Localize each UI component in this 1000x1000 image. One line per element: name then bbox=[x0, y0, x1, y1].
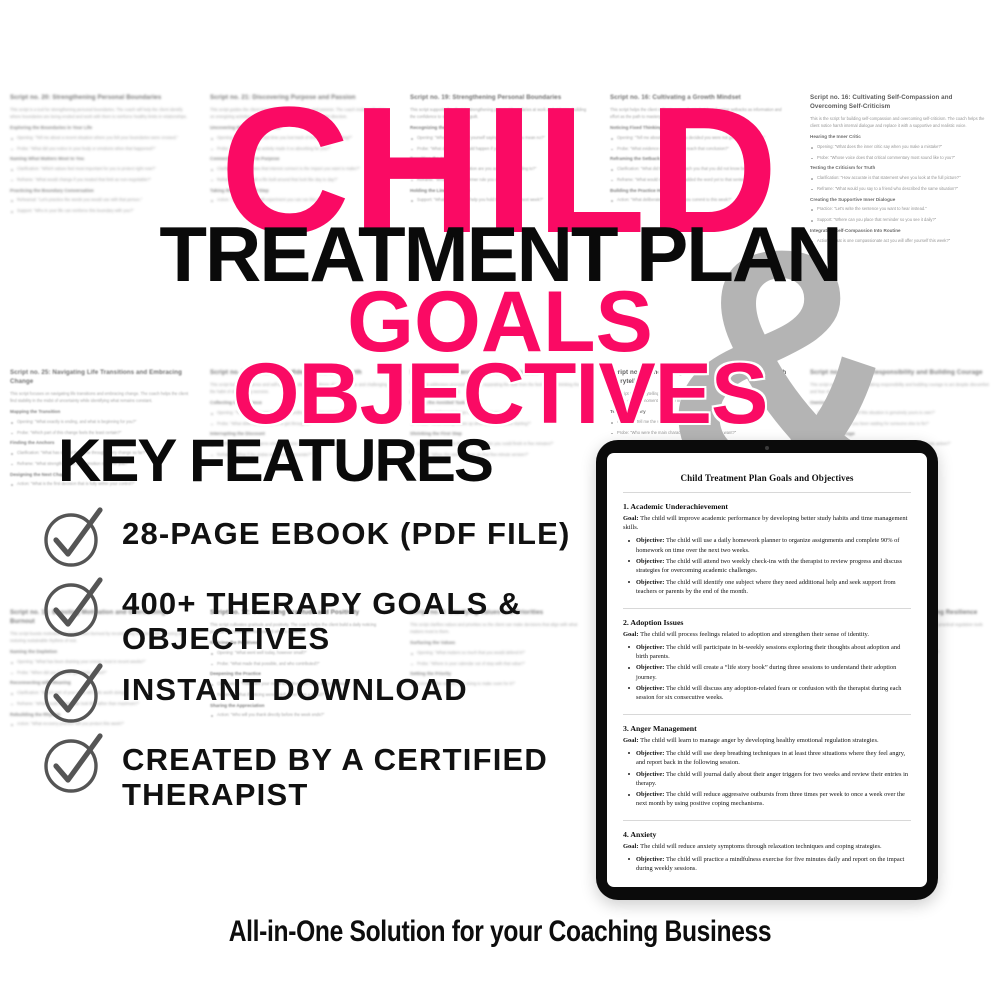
objective-item: Objective: The child will create a “life… bbox=[636, 663, 911, 681]
document-title: Child Treatment Plan Goals and Objective… bbox=[623, 473, 911, 483]
goal-label: Goal: bbox=[623, 843, 640, 850]
divider bbox=[623, 492, 911, 493]
objective-label: Objective: bbox=[636, 537, 666, 544]
objective-label: Objective: bbox=[636, 685, 666, 692]
objective-list: Objective: The child will use a daily ho… bbox=[623, 536, 911, 596]
key-features-heading: KEY FEATURES bbox=[58, 436, 492, 486]
divider bbox=[623, 714, 911, 715]
tagline: All-in-One Solution for your Coaching Bu… bbox=[90, 915, 910, 949]
feature-item: 400+ THERAPY GOALS & OBJECTIVES bbox=[40, 578, 600, 656]
poster-canvas: Script no. 20: Strengthening Personal Bo… bbox=[0, 0, 1000, 1000]
objective-item: Objective: The child will use deep breat… bbox=[636, 749, 911, 767]
feature-label: CREATED BY A CERTIFIED THERAPIST bbox=[122, 734, 600, 812]
objective-label: Objective: bbox=[636, 856, 666, 863]
objective-label: Objective: bbox=[636, 750, 666, 757]
feature-label: 400+ THERAPY GOALS & OBJECTIVES bbox=[122, 578, 600, 656]
feature-item: INSTANT DOWNLOAD bbox=[40, 664, 600, 726]
check-circle-icon bbox=[40, 574, 106, 640]
check-circle-icon bbox=[40, 660, 106, 726]
objective-item: Objective: The child will practice a min… bbox=[636, 855, 911, 873]
check-circle-icon bbox=[40, 730, 106, 796]
objective-label: Objective: bbox=[636, 558, 666, 565]
objective-item: Objective: The child will reduce aggress… bbox=[636, 790, 911, 808]
section-heading: 4. Anxiety bbox=[623, 830, 911, 839]
feature-item: 28-PAGE EBOOK (PDF FILE) bbox=[40, 508, 600, 570]
spacer bbox=[623, 811, 911, 820]
objective-list: Objective: The child will participate in… bbox=[623, 643, 911, 703]
objective-label: Objective: bbox=[636, 791, 666, 798]
divider bbox=[623, 820, 911, 821]
section-goal: Goal: The child will process feelings re… bbox=[623, 630, 911, 639]
headline-objectives: OBJECTIVES bbox=[0, 358, 1000, 430]
objective-label: Objective: bbox=[636, 644, 666, 651]
section-goal: Goal: The child will learn to manage ang… bbox=[623, 736, 911, 745]
objective-item: Objective: The child will discuss any ad… bbox=[636, 684, 911, 702]
section-heading: 2. Adoption Issues bbox=[623, 618, 911, 627]
tablet-device-mockup: Child Treatment Plan Goals and Objective… bbox=[596, 440, 938, 900]
objective-label: Objective: bbox=[636, 664, 666, 671]
section-goal: Goal: The child will improve academic pe… bbox=[623, 514, 911, 532]
section-heading: 1. Academic Underachievement bbox=[623, 502, 911, 511]
goal-label: Goal: bbox=[623, 631, 640, 638]
objective-item: Objective: The child will attend two wee… bbox=[636, 557, 911, 575]
objective-label: Objective: bbox=[636, 771, 666, 778]
feature-label: 28-PAGE EBOOK (PDF FILE) bbox=[122, 508, 570, 552]
section-goal: Goal: The child will reduce anxiety symp… bbox=[623, 842, 911, 851]
objective-item: Objective: The child will participate in… bbox=[636, 643, 911, 661]
spacer bbox=[623, 705, 911, 714]
camera-dot-icon bbox=[765, 446, 769, 450]
objective-item: Objective: The child will identify one s… bbox=[636, 578, 911, 596]
objective-item: Objective: The child will journal daily … bbox=[636, 770, 911, 788]
goal-label: Goal: bbox=[623, 515, 640, 522]
divider bbox=[623, 608, 911, 609]
objective-label: Objective: bbox=[636, 579, 666, 586]
objective-item: Objective: The child will use a daily ho… bbox=[636, 536, 911, 554]
feature-label: INSTANT DOWNLOAD bbox=[122, 664, 468, 708]
objective-list: Objective: The child will use deep breat… bbox=[623, 749, 911, 809]
objective-list: Objective: The child will practice a min… bbox=[623, 855, 911, 873]
section-heading: 3. Anger Management bbox=[623, 724, 911, 733]
feature-item: CREATED BY A CERTIFIED THERAPIST bbox=[40, 734, 600, 812]
tablet-screen: Child Treatment Plan Goals and Objective… bbox=[607, 453, 927, 887]
key-features-list: 28-PAGE EBOOK (PDF FILE)400+ THERAPY GOA… bbox=[40, 508, 600, 821]
check-circle-icon bbox=[40, 504, 106, 570]
document-sections: 1. Academic UnderachievementGoal: The ch… bbox=[623, 502, 911, 873]
goal-label: Goal: bbox=[623, 737, 640, 744]
spacer bbox=[623, 599, 911, 608]
